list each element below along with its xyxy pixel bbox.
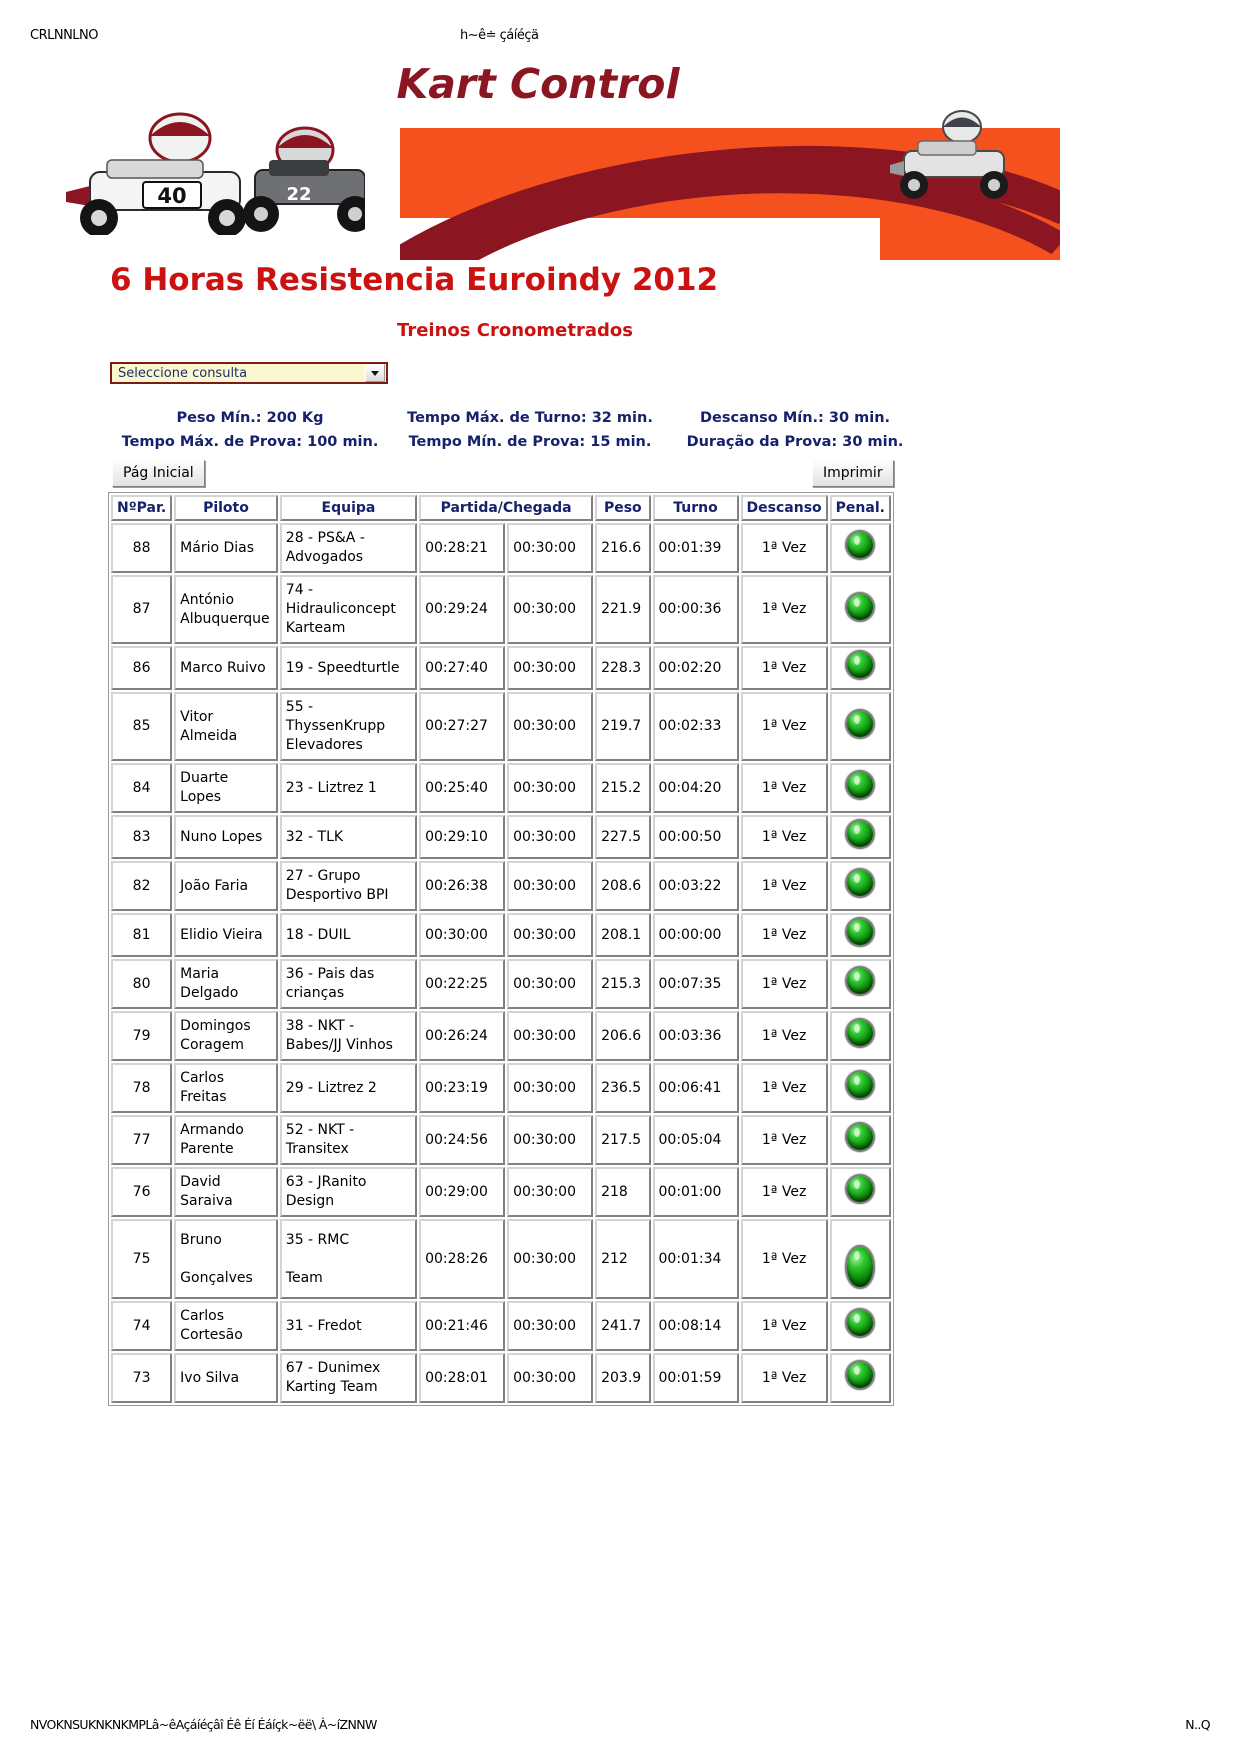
cell-penal bbox=[830, 1353, 891, 1403]
col-header-descanso: Descanso bbox=[741, 495, 828, 521]
penalty-green-light-icon bbox=[847, 1362, 873, 1388]
cell-turno: 00:07:35 bbox=[653, 959, 739, 1009]
cell-equipa: 31 - Fredot bbox=[280, 1301, 417, 1351]
cell-piloto: Marco Ruivo bbox=[174, 646, 278, 690]
cell-num: 81 bbox=[111, 913, 172, 957]
cell-descanso: 1ª Vez bbox=[741, 1301, 828, 1351]
cell-chegada: 00:30:00 bbox=[507, 1301, 593, 1351]
cell-descanso: 1ª Vez bbox=[741, 913, 828, 957]
table-row: 87António Albuquerque74 - Hidrauliconcep… bbox=[111, 575, 891, 644]
cell-penal bbox=[830, 815, 891, 859]
print-footer-left: NVOKNSUKNKNKMPLâ~êAçáíéçâî Éê Éí Éáíçk~ë… bbox=[30, 1717, 377, 1732]
cell-equipa: 35 - RMCTeam bbox=[280, 1219, 417, 1299]
param-tempo-min-prova: Tempo Mín. de Prova: 15 min. bbox=[388, 430, 673, 454]
col-header-numpar: NºPar. bbox=[111, 495, 172, 521]
cell-equipa: 63 - JRanito Design bbox=[280, 1167, 417, 1217]
cell-turno: 00:03:36 bbox=[653, 1011, 739, 1061]
cell-chegada: 00:30:00 bbox=[507, 523, 593, 573]
cell-partida: 00:26:24 bbox=[419, 1011, 505, 1061]
cell-piloto: Domingos Coragem bbox=[174, 1011, 278, 1061]
site-banner: Kart Control 22 40 bbox=[0, 45, 1240, 260]
cell-equipa: 55 - ThyssenKrupp Elevadores bbox=[280, 692, 417, 761]
race-parameters-line-1: Peso Mín.: 200 KgTempo Máx. de Turno: 32… bbox=[110, 406, 920, 430]
col-header-turno: Turno bbox=[653, 495, 739, 521]
cell-descanso: 1ª Vez bbox=[741, 763, 828, 813]
cell-chegada: 00:30:00 bbox=[507, 575, 593, 644]
cell-num: 84 bbox=[111, 763, 172, 813]
cell-descanso: 1ª Vez bbox=[741, 1353, 828, 1403]
print-header-middle: h~ê≐ çáíéçä bbox=[460, 28, 539, 43]
cell-chegada: 00:30:00 bbox=[507, 1115, 593, 1165]
cell-descanso: 1ª Vez bbox=[741, 959, 828, 1009]
cell-piloto: BrunoGonçalves bbox=[174, 1219, 278, 1299]
penalty-green-light-icon bbox=[847, 532, 873, 558]
table-row: 74Carlos Cortesão31 - Fredot00:21:4600:3… bbox=[111, 1301, 891, 1351]
col-header-equipa: Equipa bbox=[280, 495, 417, 521]
cell-peso: 203.9 bbox=[595, 1353, 650, 1403]
cell-peso: 221.9 bbox=[595, 575, 650, 644]
cell-equipa: 67 - Dunimex Karting Team bbox=[280, 1353, 417, 1403]
col-header-peso: Peso bbox=[595, 495, 650, 521]
penalty-green-light-icon bbox=[847, 1247, 873, 1287]
cell-descanso: 1ª Vez bbox=[741, 1063, 828, 1113]
cell-piloto: Ivo Silva bbox=[174, 1353, 278, 1403]
penalty-green-light-icon bbox=[847, 1310, 873, 1336]
cell-chegada: 00:30:00 bbox=[507, 1063, 593, 1113]
cell-turno: 00:08:14 bbox=[653, 1301, 739, 1351]
cell-peso: 216.6 bbox=[595, 523, 650, 573]
cell-penal bbox=[830, 692, 891, 761]
cell-num: 87 bbox=[111, 575, 172, 644]
cell-partida: 00:30:00 bbox=[419, 913, 505, 957]
penalty-green-light-icon bbox=[847, 772, 873, 798]
cell-equipa: 32 - TLK bbox=[280, 815, 417, 859]
table-row: 76David Saraiva63 - JRanito Design00:29:… bbox=[111, 1167, 891, 1217]
results-table: NºPar. Piloto Equipa Partida/Chegada Pes… bbox=[108, 492, 894, 1406]
cell-num: 85 bbox=[111, 692, 172, 761]
cell-penal bbox=[830, 1115, 891, 1165]
cell-penal bbox=[830, 763, 891, 813]
penalty-green-light-icon bbox=[847, 1020, 873, 1046]
cell-peso: 208.1 bbox=[595, 913, 650, 957]
param-peso-min: Peso Mín.: 200 Kg bbox=[113, 406, 388, 430]
cell-piloto: Duarte Lopes bbox=[174, 763, 278, 813]
cell-peso: 241.7 bbox=[595, 1301, 650, 1351]
cell-partida: 00:26:38 bbox=[419, 861, 505, 911]
cell-num: 82 bbox=[111, 861, 172, 911]
table-row: 83Nuno Lopes32 - TLK00:29:1000:30:00227.… bbox=[111, 815, 891, 859]
cell-peso: 212 bbox=[595, 1219, 650, 1299]
svg-text:40: 40 bbox=[157, 184, 186, 208]
cell-peso: 236.5 bbox=[595, 1063, 650, 1113]
cell-piloto: Carlos Freitas bbox=[174, 1063, 278, 1113]
cell-piloto: Armando Parente bbox=[174, 1115, 278, 1165]
print-header-left: CRLNNLNO bbox=[30, 28, 98, 43]
cell-partida: 00:27:27 bbox=[419, 692, 505, 761]
cell-descanso: 1ª Vez bbox=[741, 815, 828, 859]
cell-partida: 00:28:26 bbox=[419, 1219, 505, 1299]
cell-equipa: 18 - DUIL bbox=[280, 913, 417, 957]
cell-piloto: Carlos Cortesão bbox=[174, 1301, 278, 1351]
cell-equipa: 27 - Grupo Desportivo BPI bbox=[280, 861, 417, 911]
table-row: 78Carlos Freitas29 - Liztrez 200:23:1900… bbox=[111, 1063, 891, 1113]
cell-equipa: 28 - PS&A - Advogados bbox=[280, 523, 417, 573]
cell-num: 83 bbox=[111, 815, 172, 859]
cell-turno: 00:02:33 bbox=[653, 692, 739, 761]
cell-penal bbox=[830, 1063, 891, 1113]
penalty-green-light-icon bbox=[847, 652, 873, 678]
cell-descanso: 1ª Vez bbox=[741, 1219, 828, 1299]
cell-num: 86 bbox=[111, 646, 172, 690]
col-header-piloto: Piloto bbox=[174, 495, 278, 521]
cell-turno: 00:00:50 bbox=[653, 815, 739, 859]
cell-penal bbox=[830, 523, 891, 573]
kart-illustration-left: 22 40 bbox=[55, 90, 365, 239]
cell-peso: 218 bbox=[595, 1167, 650, 1217]
cell-partida: 00:28:01 bbox=[419, 1353, 505, 1403]
cell-chegada: 00:30:00 bbox=[507, 1219, 593, 1299]
page-title: 6 Horas Resistencia Euroindy 2012 bbox=[110, 262, 718, 298]
kart-illustration-right bbox=[888, 103, 1014, 215]
cell-partida: 00:29:00 bbox=[419, 1167, 505, 1217]
cell-peso: 217.5 bbox=[595, 1115, 650, 1165]
cell-equipa: 36 - Pais das crianças bbox=[280, 959, 417, 1009]
table-body: 88Mário Dias28 - PS&A - Advogados00:28:2… bbox=[111, 523, 891, 1403]
cell-num: 78 bbox=[111, 1063, 172, 1113]
cell-descanso: 1ª Vez bbox=[741, 1115, 828, 1165]
cell-descanso: 1ª Vez bbox=[741, 1011, 828, 1061]
page-subtitle: Treinos Cronometrados bbox=[110, 320, 920, 341]
cell-descanso: 1ª Vez bbox=[741, 1167, 828, 1217]
cell-peso: 227.5 bbox=[595, 815, 650, 859]
penalty-green-light-icon bbox=[847, 821, 873, 847]
cell-chegada: 00:30:00 bbox=[507, 1011, 593, 1061]
table-row: 81Elidio Vieira18 - DUIL00:30:0000:30:00… bbox=[111, 913, 891, 957]
cell-chegada: 00:30:00 bbox=[507, 763, 593, 813]
penalty-green-light-icon bbox=[847, 968, 873, 994]
cell-equipa: 23 - Liztrez 1 bbox=[280, 763, 417, 813]
cell-num: 80 bbox=[111, 959, 172, 1009]
cell-turno: 00:06:41 bbox=[653, 1063, 739, 1113]
table-header-row: NºPar. Piloto Equipa Partida/Chegada Pes… bbox=[111, 495, 891, 521]
print-footer-right: N..Q bbox=[1185, 1717, 1210, 1732]
penalty-green-light-icon bbox=[847, 870, 873, 896]
cell-penal bbox=[830, 575, 891, 644]
table-row: 84Duarte Lopes23 - Liztrez 100:25:4000:3… bbox=[111, 763, 891, 813]
cell-num: 79 bbox=[111, 1011, 172, 1061]
table-row: 88Mário Dias28 - PS&A - Advogados00:28:2… bbox=[111, 523, 891, 573]
cell-turno: 00:02:20 bbox=[653, 646, 739, 690]
cell-num: 73 bbox=[111, 1353, 172, 1403]
cell-partida: 00:21:46 bbox=[419, 1301, 505, 1351]
cell-peso: 215.3 bbox=[595, 959, 650, 1009]
consulta-select-label: Seleccione consulta bbox=[112, 366, 365, 381]
cell-turno: 00:00:36 bbox=[653, 575, 739, 644]
svg-text:22: 22 bbox=[286, 184, 311, 205]
penalty-green-light-icon bbox=[847, 711, 873, 737]
cell-descanso: 1ª Vez bbox=[741, 692, 828, 761]
cell-turno: 00:04:20 bbox=[653, 763, 739, 813]
cell-partida: 00:22:25 bbox=[419, 959, 505, 1009]
cell-penal bbox=[830, 646, 891, 690]
table-row: 73Ivo Silva67 - Dunimex Karting Team00:2… bbox=[111, 1353, 891, 1403]
cell-chegada: 00:30:00 bbox=[507, 1167, 593, 1217]
penalty-green-light-icon bbox=[847, 594, 873, 620]
cell-chegada: 00:30:00 bbox=[507, 692, 593, 761]
table-row: 86Marco Ruivo19 - Speedturtle00:27:4000:… bbox=[111, 646, 891, 690]
cell-num: 74 bbox=[111, 1301, 172, 1351]
cell-piloto: Vitor Almeida bbox=[174, 692, 278, 761]
col-header-penal: Penal. bbox=[830, 495, 891, 521]
cell-peso: 208.6 bbox=[595, 861, 650, 911]
cell-equipa: 52 - NKT - Transitex bbox=[280, 1115, 417, 1165]
cell-piloto: Elidio Vieira bbox=[174, 913, 278, 957]
penalty-green-light-icon bbox=[847, 919, 873, 945]
race-parameters-line-2: Tempo Máx. de Prova: 100 min.Tempo Mín. … bbox=[110, 430, 920, 454]
cell-turno: 00:01:39 bbox=[653, 523, 739, 573]
cell-turno: 00:01:34 bbox=[653, 1219, 739, 1299]
cell-chegada: 00:30:00 bbox=[507, 913, 593, 957]
table-row: 79Domingos Coragem38 - NKT - Babes/JJ Vi… bbox=[111, 1011, 891, 1061]
cell-num: 77 bbox=[111, 1115, 172, 1165]
col-header-partida-chegada: Partida/Chegada bbox=[419, 495, 593, 521]
table-row: 82João Faria27 - Grupo Desportivo BPI00:… bbox=[111, 861, 891, 911]
cell-turno: 00:01:00 bbox=[653, 1167, 739, 1217]
cell-num: 75 bbox=[111, 1219, 172, 1299]
cell-descanso: 1ª Vez bbox=[741, 861, 828, 911]
cell-piloto: Maria Delgado bbox=[174, 959, 278, 1009]
cell-chegada: 00:30:00 bbox=[507, 1353, 593, 1403]
cell-equipa: 74 - Hidrauliconcept Karteam bbox=[280, 575, 417, 644]
penalty-green-light-icon bbox=[847, 1124, 873, 1150]
home-page-button[interactable]: Pág Inicial bbox=[112, 460, 205, 487]
cell-piloto: João Faria bbox=[174, 861, 278, 911]
cell-piloto: David Saraiva bbox=[174, 1167, 278, 1217]
cell-penal bbox=[830, 861, 891, 911]
cell-penal bbox=[830, 959, 891, 1009]
penalty-green-light-icon bbox=[847, 1072, 873, 1098]
table-row: 77Armando Parente52 - NKT - Transitex00:… bbox=[111, 1115, 891, 1165]
cell-partida: 00:28:21 bbox=[419, 523, 505, 573]
cell-turno: 00:05:04 bbox=[653, 1115, 739, 1165]
chevron-down-icon[interactable] bbox=[365, 364, 385, 382]
race-parameters: Peso Mín.: 200 KgTempo Máx. de Turno: 32… bbox=[110, 406, 920, 454]
cell-piloto: António Albuquerque bbox=[174, 575, 278, 644]
cell-penal bbox=[830, 1167, 891, 1217]
cell-chegada: 00:30:00 bbox=[507, 815, 593, 859]
cell-descanso: 1ª Vez bbox=[741, 523, 828, 573]
cell-penal bbox=[830, 913, 891, 957]
cell-num: 76 bbox=[111, 1167, 172, 1217]
table-row: 80Maria Delgado36 - Pais das crianças00:… bbox=[111, 959, 891, 1009]
cell-penal bbox=[830, 1011, 891, 1061]
brand-title: Kart Control bbox=[388, 60, 688, 108]
cell-peso: 228.3 bbox=[595, 646, 650, 690]
cell-partida: 00:27:40 bbox=[419, 646, 505, 690]
cell-turno: 00:01:59 bbox=[653, 1353, 739, 1403]
cell-turno: 00:03:22 bbox=[653, 861, 739, 911]
param-duracao-prova: Duração da Prova: 30 min. bbox=[673, 430, 918, 454]
cell-num: 88 bbox=[111, 523, 172, 573]
param-tempo-max-turno: Tempo Máx. de Turno: 32 min. bbox=[388, 406, 673, 430]
cell-partida: 00:29:10 bbox=[419, 815, 505, 859]
cell-equipa: 19 - Speedturtle bbox=[280, 646, 417, 690]
cell-partida: 00:29:24 bbox=[419, 575, 505, 644]
table-row: 75BrunoGonçalves35 - RMCTeam00:28:2600:3… bbox=[111, 1219, 891, 1299]
cell-partida: 00:25:40 bbox=[419, 763, 505, 813]
param-tempo-max-prova: Tempo Máx. de Prova: 100 min. bbox=[113, 430, 388, 454]
cell-partida: 00:24:56 bbox=[419, 1115, 505, 1165]
cell-partida: 00:23:19 bbox=[419, 1063, 505, 1113]
cell-peso: 219.7 bbox=[595, 692, 650, 761]
table-row: 85Vitor Almeida55 - ThyssenKrupp Elevado… bbox=[111, 692, 891, 761]
cell-descanso: 1ª Vez bbox=[741, 646, 828, 690]
cell-descanso: 1ª Vez bbox=[741, 575, 828, 644]
cell-chegada: 00:30:00 bbox=[507, 646, 593, 690]
cell-piloto: Mário Dias bbox=[174, 523, 278, 573]
cell-penal bbox=[830, 1301, 891, 1351]
cell-peso: 206.6 bbox=[595, 1011, 650, 1061]
consulta-select[interactable]: Seleccione consulta bbox=[110, 362, 388, 384]
cell-piloto: Nuno Lopes bbox=[174, 815, 278, 859]
print-button[interactable]: Imprimir bbox=[812, 460, 894, 487]
cell-penal bbox=[830, 1219, 891, 1299]
cell-chegada: 00:30:00 bbox=[507, 861, 593, 911]
param-descanso-min: Descanso Mín.: 30 min. bbox=[673, 406, 918, 430]
cell-turno: 00:00:00 bbox=[653, 913, 739, 957]
cell-equipa: 29 - Liztrez 2 bbox=[280, 1063, 417, 1113]
cell-peso: 215.2 bbox=[595, 763, 650, 813]
cell-equipa: 38 - NKT - Babes/JJ Vinhos bbox=[280, 1011, 417, 1061]
cell-chegada: 00:30:00 bbox=[507, 959, 593, 1009]
penalty-green-light-icon bbox=[847, 1176, 873, 1202]
